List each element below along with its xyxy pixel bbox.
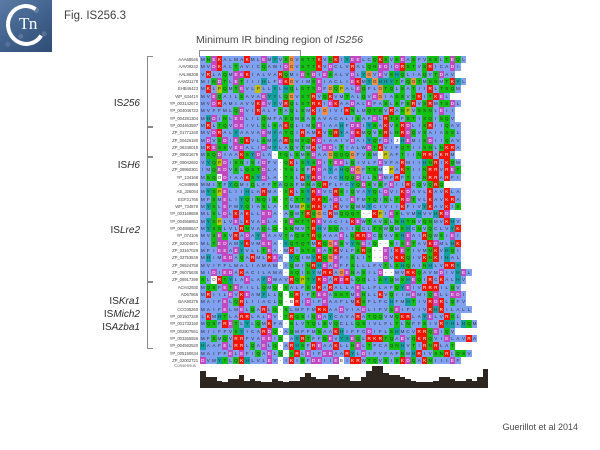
alignment-row: SLORTYLAELAYDWAVRQPTYRDARDRLQQLLSYQMSHEQ… xyxy=(200,276,488,283)
sequence-id: YP_003142672 xyxy=(154,100,198,107)
sequence-id: YP_003169659 xyxy=(154,210,198,217)
alignment-row: VYQPDISNISIDFV-QKLSYSDITEELQIVLFEVFARMII… xyxy=(200,159,488,166)
group-label-italic: 256 xyxy=(123,98,140,109)
sequence-id: YP_004463597 xyxy=(154,122,198,129)
alignment-residue xyxy=(483,320,489,327)
group-bracket-1 xyxy=(147,127,153,157)
sequence-id: BAA90376 xyxy=(154,298,198,305)
alignment-title: Minimum IR binding region of IS256 xyxy=(196,34,363,46)
sequence-id: YP_002907551 xyxy=(154,328,198,335)
group-label-ish6: ISH6 xyxy=(55,160,140,171)
alignment-row: MYSPLVELKVAELA-SENTTREVACILKEWTAVSLNHTNV… xyxy=(200,218,488,225)
sequence-id: ZP_03167029 xyxy=(154,247,198,254)
group-label-prefix: IS xyxy=(118,160,127,171)
alignment-row: MRIILEVKEAMYLLQ-QRIFTEEASSTMENLLKVQIIMEM… xyxy=(200,291,488,298)
alignment-title-prefix: Minimum IR binding region of xyxy=(196,34,335,46)
sequence-id: ACH42930 xyxy=(154,284,198,291)
alignment-residue xyxy=(483,218,489,225)
group-bracket-2 xyxy=(147,157,153,282)
alignment-row: MIDIEDAKACILAMA-SQISYMRKAGENASILD--MVRKQ… xyxy=(200,269,488,276)
alignment-residue xyxy=(483,63,489,70)
conservation-bar xyxy=(483,369,489,388)
alignment-residue xyxy=(483,269,489,276)
alignment-row: VRLAQMEEKIALVARQMIDTDIESALVDLYGVEVSHQLIA… xyxy=(200,71,488,78)
alignment-row: MQSFETEFILLQMQ-SALFSMRARALLAELLFLAFQYEIV… xyxy=(200,284,488,291)
alignment-residue xyxy=(483,328,489,335)
sequence-id: YP_004592520 xyxy=(154,342,198,349)
conservation-column xyxy=(483,360,489,388)
alignment-row: LKMHTLARRLALEV-TRQSIQDAYCAVARATQQVMQKRLA… xyxy=(200,313,488,320)
alignment-residue xyxy=(483,196,489,203)
alignment-row: MRESSVEEALIEMYLAQVTMRVEDITIALWDTKVIFQTII… xyxy=(200,144,488,151)
sequence-id: ZP_06346018 xyxy=(154,144,198,151)
alignment-row: MYSSLVLRNVAQLQ-SNMVTRHVSQAIIQCLTSWQMSHCN… xyxy=(200,225,488,232)
alignment-row: MYSLEFMYQIASLA-TMMPSRKVIKVVQMMYCIVIIKFIV… xyxy=(200,203,488,210)
alignment-row: MDVSDIEQKVLSMYARQMSQRDIAAIVEAIYQFDIJHEMI… xyxy=(200,137,488,144)
alignment-residue xyxy=(483,144,489,151)
alignment-residue xyxy=(483,100,489,107)
group-bracket-3 xyxy=(147,282,153,349)
alignment-row: MSQODIAAKSYDLA-TSLRYRDIACHQQDILSEMFRFTII… xyxy=(200,174,488,181)
alignment-residue xyxy=(483,276,489,283)
sequence-id: ZP_09021679 xyxy=(154,151,198,158)
alignment-row: MAIFELQRLIIACLQ-BRIDIFEAAFLMKSFLFCHFMHTI… xyxy=(200,298,488,305)
alignment-residue xyxy=(483,78,489,85)
alignment-residue xyxy=(483,203,489,210)
alignment-residue xyxy=(483,137,489,144)
group-label-prefix: IS xyxy=(111,225,120,236)
alignment-row: MIIFFVSYICARDQ-AQMFFMSAAKHIFFCDIFLSHMCVR… xyxy=(200,328,488,335)
figure-caption: Fig. IS256.3 xyxy=(64,10,126,22)
group-label-italic: Mich2 xyxy=(113,309,140,320)
sequence-id: EHB46423 xyxy=(154,85,198,92)
sequence-id: YP_004568853 xyxy=(154,218,198,225)
alignment-residue xyxy=(483,122,489,129)
group-label-is256: IS256 xyxy=(55,98,140,109)
alignment-residue xyxy=(483,262,489,269)
alignment-row: IMQEDVSLQSTDLA-TSLSFRDAYAHQDGFTSM-PAKTII… xyxy=(200,166,488,173)
alignment-title-italic: IS256 xyxy=(335,34,362,46)
sequence-id: YP_001733150 xyxy=(154,320,198,327)
alignment-row: MLTEDAMYKVMEEA-YQTQTMRQGESVYNEIQ--SISETA… xyxy=(200,240,488,247)
alignment-residue xyxy=(483,159,489,166)
alignment-row: MQSFRETLYLQMKFA-SLVTQLSVQCLLQSIVLFLTLNFF… xyxy=(200,320,488,327)
alignment-residue xyxy=(483,291,489,298)
alignment-residue xyxy=(483,225,489,232)
alignment-residue xyxy=(483,188,489,195)
alignment-row: MFSMQVRRFVAEEIS-AYRTFFQEVYYEQLRKRTQAEVQK… xyxy=(200,335,488,342)
citation-text: Guerillot et al 2014 xyxy=(502,422,578,432)
sequence-id: AD67866 xyxy=(154,291,198,298)
alignment-residue xyxy=(483,115,489,122)
sequence-id: ZP_09950301 xyxy=(154,166,198,173)
alignment-residue xyxy=(483,181,489,188)
alignment-residue xyxy=(483,210,489,217)
alignment-row: MLSLDLKAKLLEDA-AQMTRQGCRMQQQT--KPIESLVMH… xyxy=(200,210,488,217)
sequence-id: AC949958 xyxy=(154,181,198,188)
alignment-residue xyxy=(483,240,489,247)
alignment-row: MVDRAMIAVVKEVYVRQLSTRKIEKAADALEFASLSFSRV… xyxy=(200,100,488,107)
group-label-italic: Lre2 xyxy=(120,225,140,236)
alignment-row: MHDINLEDLILQMFASQMSANAVACALISAFELRTSFSTI… xyxy=(200,115,488,122)
tn-center-logo: Tn xyxy=(0,0,52,52)
group-label-isazba1: ISAzba1 xyxy=(55,322,140,333)
group-bracket-0 xyxy=(147,56,153,127)
alignment-residue xyxy=(483,71,489,78)
consensus-label: Consensus xyxy=(150,363,196,368)
alignment-residue xyxy=(483,151,489,158)
alignment-row: MYSPELIIHLARMA-SKLSYREVCRSIQVAYQLDVIKDAV… xyxy=(200,188,488,195)
sequence-alignment-grid: MNEKALMAKMLEMYVSGVSTTKVSKIYEELCQKSVSEASF… xyxy=(200,56,488,364)
alignment-row: MVSESVRADAYEAAVTAQSTRQAAAELQRRDCQVVSHEAI… xyxy=(200,232,488,239)
alignment-residue xyxy=(483,85,489,92)
sequence-id: WP_63441# xyxy=(154,93,198,100)
alignment-residue xyxy=(483,129,489,136)
sequence-id: WP_734878 xyxy=(154,203,198,210)
sequence-id: CCO35260 xyxy=(154,306,198,313)
alignment-residue xyxy=(483,107,489,114)
sequence-id: AAM21178 xyxy=(154,78,198,85)
sequence-id-column: AAA68546AAV09242AAL96208AAM21178EHB46423… xyxy=(154,56,198,364)
group-label-islre2: ISLre2 xyxy=(55,225,140,236)
alignment-row: MVFFMLQDVIRALFTAQLSMKIGIVIRNLMQTSVRASPVS… xyxy=(200,107,488,114)
alignment-row: MAIFFELEFIQAELQ-SRLEIFEEAARYLDIFVFAFNMHR… xyxy=(200,350,488,357)
sequence-id: YP_001507349 xyxy=(154,313,198,320)
sequence-id: EGF21766 xyxy=(154,196,198,203)
alignment-row: MVIFFLMALIAMAM-IQMINRHEAEFFSLLLFVTLSHQAI… xyxy=(200,262,488,269)
alignment-residue xyxy=(483,174,489,181)
alignment-row: HAAFELRRLQAELQ-ARHSFREAAKLLNELTFCAQNHVTI… xyxy=(200,342,488,349)
group-label-iskra1: ISKra1 xyxy=(55,296,140,307)
sequence-id: AAV09242 xyxy=(154,63,198,70)
group-label-prefix: IS xyxy=(104,309,113,320)
alignment-residue xyxy=(483,298,489,305)
sequence-id: YP_004046723 xyxy=(154,107,198,114)
alignment-row: MNEKALMAKMLEMYVSGVSTTKVSKIYEELCQKSVSEASF… xyxy=(200,56,488,63)
alignment-row: MHIMEDAQARMLREA-YQIMYRQGEFISLIT--DVKKQIV… xyxy=(200,254,488,261)
alignment-row: MAIFELMELQARLQ-SLMFFMRKAADVIAELIFVSEIFVI… xyxy=(200,306,488,313)
conservation-histogram xyxy=(200,360,489,388)
alignment-residue xyxy=(483,342,489,349)
sequence-id: YP_004281304 xyxy=(154,115,198,122)
sequence-id: ZP_06524758 xyxy=(154,262,198,269)
sequence-id: AAL96208 xyxy=(154,71,198,78)
alignment-residue xyxy=(483,247,489,254)
alignment-row: MKLPQMTEVLPLLYLHQLSTSDFGQPALEQFLGTQLSATI… xyxy=(200,85,488,92)
sequence-id: YP_005190634 xyxy=(154,350,198,357)
alignment-residue xyxy=(483,284,489,291)
sequence-id: ZP_09042692 xyxy=(154,159,198,166)
alignment-row: MFSMELIYQINQIS-TCTTYRKTADLIEFMTQINLTRDTV… xyxy=(200,196,488,203)
group-label-prefix: IS xyxy=(109,296,118,307)
sequence-id: YP_074106 xyxy=(154,232,198,239)
alignment-row: MVEQAILSAVAEYYLQGVSTRVQKVMTALQVEGIASSVSR… xyxy=(200,93,488,100)
sequence-id: YP_004885647 xyxy=(154,225,198,232)
sequence-id: ZP_06075636 xyxy=(154,269,198,276)
alignment-residue xyxy=(483,313,489,320)
sequence-id: AAA68546 xyxy=(154,56,198,63)
alignment-row: MINDTLETIIIHLFEKGVIMSEIACLIEKMYGHHYTFQGT… xyxy=(200,78,488,85)
group-label-italic: H6 xyxy=(127,160,140,171)
alignment-residue xyxy=(483,350,489,357)
group-label-prefix: IS xyxy=(114,98,123,109)
alignment-residue xyxy=(483,335,489,342)
alignment-residue xyxy=(483,56,489,63)
sequence-id: YP_003265556 xyxy=(154,335,198,342)
alignment-row: MMITFYQMIQLFFTAQSFMNAQRFLFCYQDSVSFEIIRCQ… xyxy=(200,181,488,188)
sequence-id: ZP_02024871 xyxy=(154,240,198,247)
alignment-residue xyxy=(483,93,489,100)
alignment-residue xyxy=(483,166,489,173)
logo-tn-text: Tn xyxy=(19,14,37,34)
alignment-residue xyxy=(483,254,489,261)
group-label-italic: Azba1 xyxy=(112,322,140,333)
sequence-id: AE_J26054 xyxy=(154,188,198,195)
alignment-row: MVDKALTAVICQAWIDGVSTTKVDCLVRALQNEDIDRSTV… xyxy=(200,63,488,70)
alignment-residue xyxy=(483,232,489,239)
alignment-row: MRLTQVDEIVLSLSAKQLIMQEIAAHFDEIYSAKVSRDLI… xyxy=(200,122,488,129)
sequence-id: ZP_01771340 xyxy=(154,129,198,136)
alignment-row: MSQDIAAKSYDLA-TQLSMSDAAGQQQGFVSM-PAFTIIN… xyxy=(200,151,488,158)
alignment-row: MFIEEAEYVLLTEA-MKISTSEATKVLFSRQ--EIKETIV… xyxy=(200,247,488,254)
alignment-residue xyxy=(483,306,489,313)
sequence-id: ZP_03753849 xyxy=(154,254,198,261)
group-label-prefix: IS xyxy=(102,322,111,333)
sequence-id: ZP_00426180 xyxy=(154,137,198,144)
alignment-row: MVDRALYAAVAEMYATQIRAMKVQRYAEKMQVSRLNRDQV… xyxy=(200,129,488,136)
sequence-id: ZP_08917399 xyxy=(154,276,198,283)
group-label-ismich2: ISMich2 xyxy=(55,309,140,320)
group-label-italic: Kra1 xyxy=(119,296,140,307)
sequence-id: YP_134168 xyxy=(154,174,198,181)
